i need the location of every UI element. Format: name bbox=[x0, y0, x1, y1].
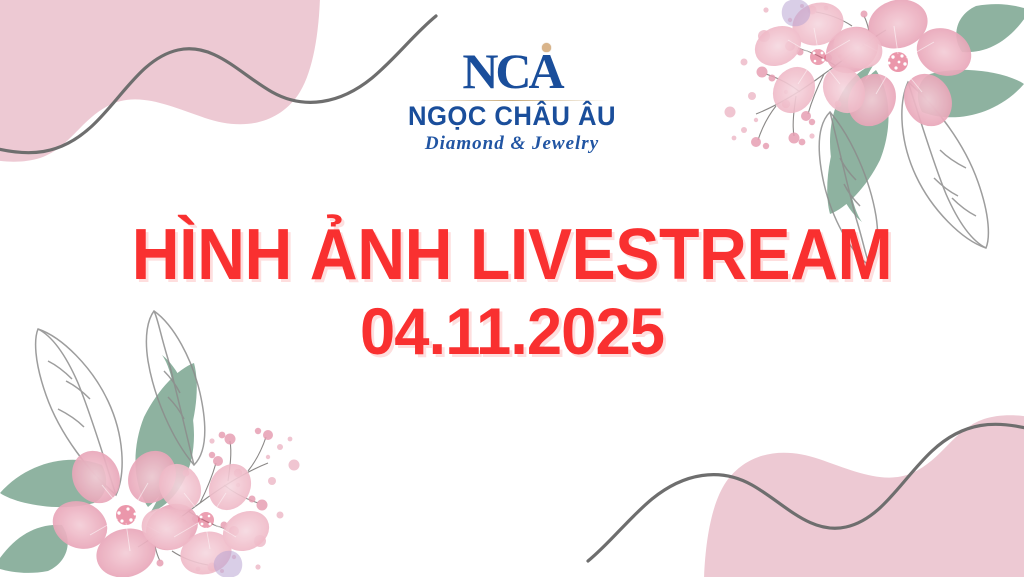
logo-brand-name: NGỌC CHÂU ÂU bbox=[26, 101, 999, 131]
bl-green-leaves bbox=[0, 355, 197, 573]
bl-blossom-large-center bbox=[116, 505, 137, 525]
slide-canvas: NCA NGỌC CHÂU ÂU Diamond & Jewelry HÌNH … bbox=[0, 0, 1024, 577]
tr-violet-accent bbox=[782, 0, 811, 26]
gem-icon bbox=[542, 43, 551, 52]
bottom-right-pink-blob bbox=[704, 415, 1024, 577]
bl-blossom-small-center bbox=[198, 512, 214, 528]
headline-block: HÌNH ẢNH LIVESTREAM 04.11.2025 bbox=[0, 216, 1024, 366]
headline-title: HÌNH ẢNH LIVESTREAM bbox=[41, 216, 983, 294]
bl-blossom-large bbox=[45, 442, 206, 577]
bottom-right-wave-line bbox=[588, 424, 1024, 561]
logo-tagline: Diamond & Jewelry bbox=[0, 132, 1024, 156]
bl-small-buds bbox=[157, 428, 274, 572]
bl-violet-accent bbox=[214, 551, 243, 577]
bl-paint-splatter bbox=[182, 437, 300, 573]
brand-logo: NCA NGỌC CHÂU ÂU Diamond & Jewelry bbox=[0, 46, 1024, 156]
headline-date: 04.11.2025 bbox=[20, 296, 1003, 366]
bl-blossom-small bbox=[135, 456, 276, 577]
bl-branch-stems bbox=[138, 437, 268, 565]
logo-monogram: NCA bbox=[462, 46, 561, 96]
